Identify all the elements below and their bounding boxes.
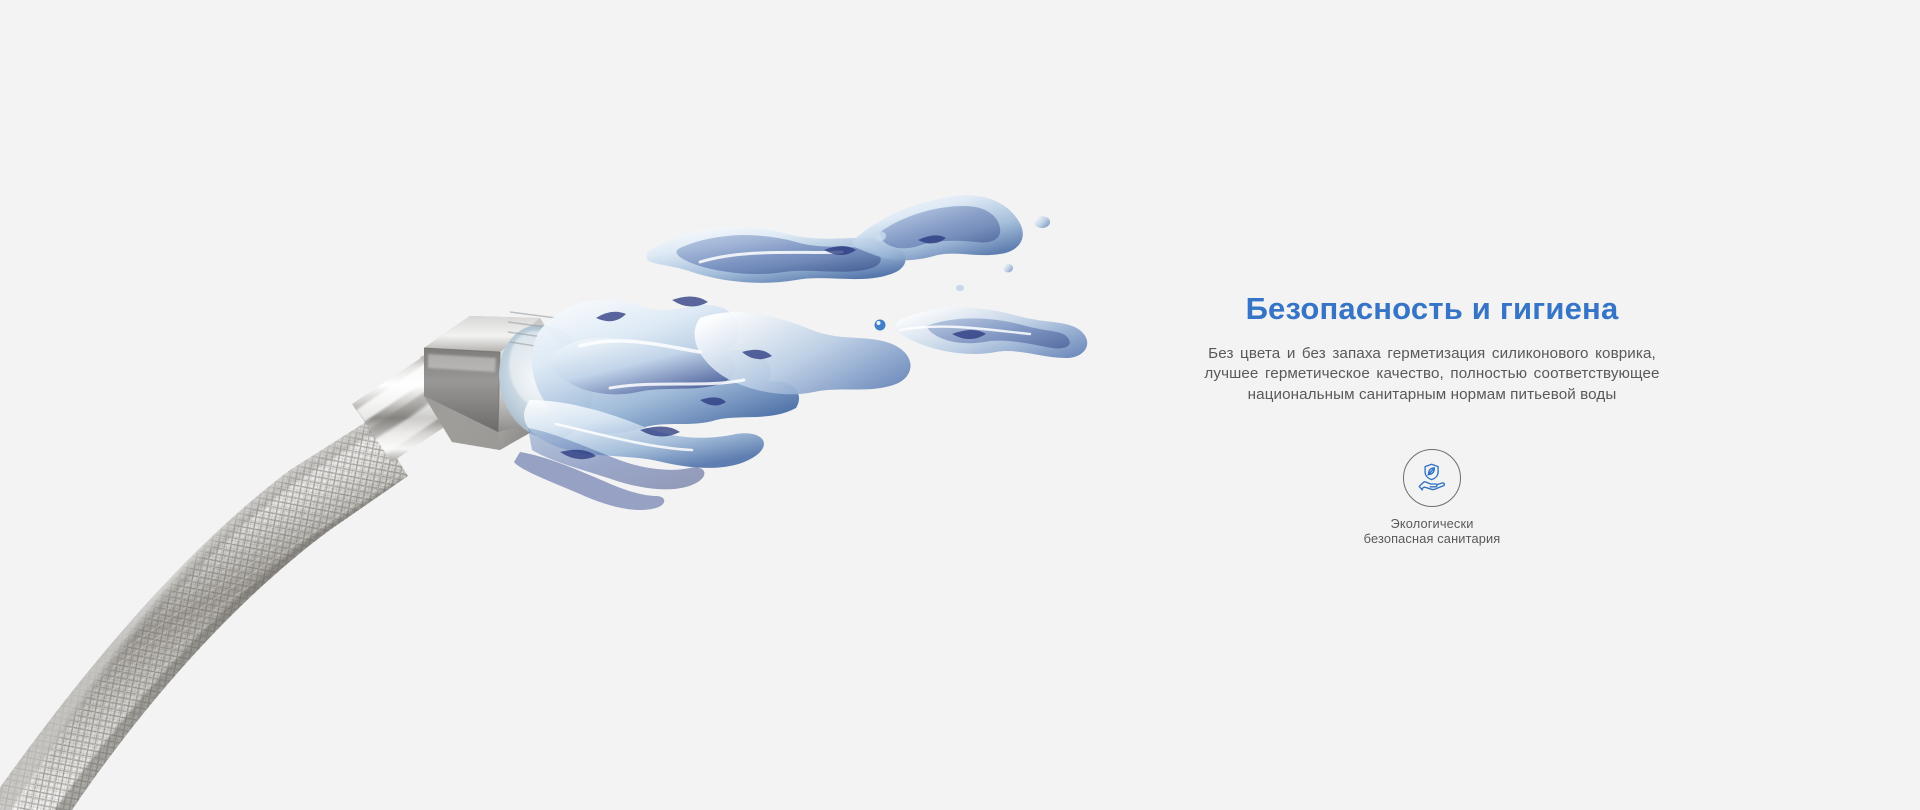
copy-panel: Безопасность и гигиена Без цвета и без з…: [1132, 290, 1732, 546]
eco-icon-circle: [1403, 449, 1461, 507]
product-feature-banner: Безопасность и гигиена Без цвета и без з…: [0, 0, 1920, 810]
water-splash: [514, 195, 1087, 510]
feature-caption-line-2: безопасная санитария: [1364, 531, 1501, 546]
feature-badge: Экологически безопасная санитария: [1132, 449, 1732, 546]
feature-caption-line-1: Экологически: [1364, 516, 1501, 531]
description-line-3: национальным санитарным нормам питьевой …: [1132, 385, 1732, 406]
braided-hose: [0, 384, 408, 810]
description-line-2: лучшее герметическое качество, полностью…: [1132, 364, 1732, 385]
page-title: Безопасность и гигиена: [1132, 290, 1732, 329]
product-photo: [0, 0, 1120, 810]
feature-caption: Экологически безопасная санитария: [1364, 516, 1501, 546]
hand-holding-shield-with-leaf-icon: [1414, 460, 1450, 496]
description-text: Без цвета и без запаха герметизация сили…: [1132, 344, 1732, 406]
description-line-1: Без цвета и без запаха герметизация сили…: [1132, 344, 1732, 365]
